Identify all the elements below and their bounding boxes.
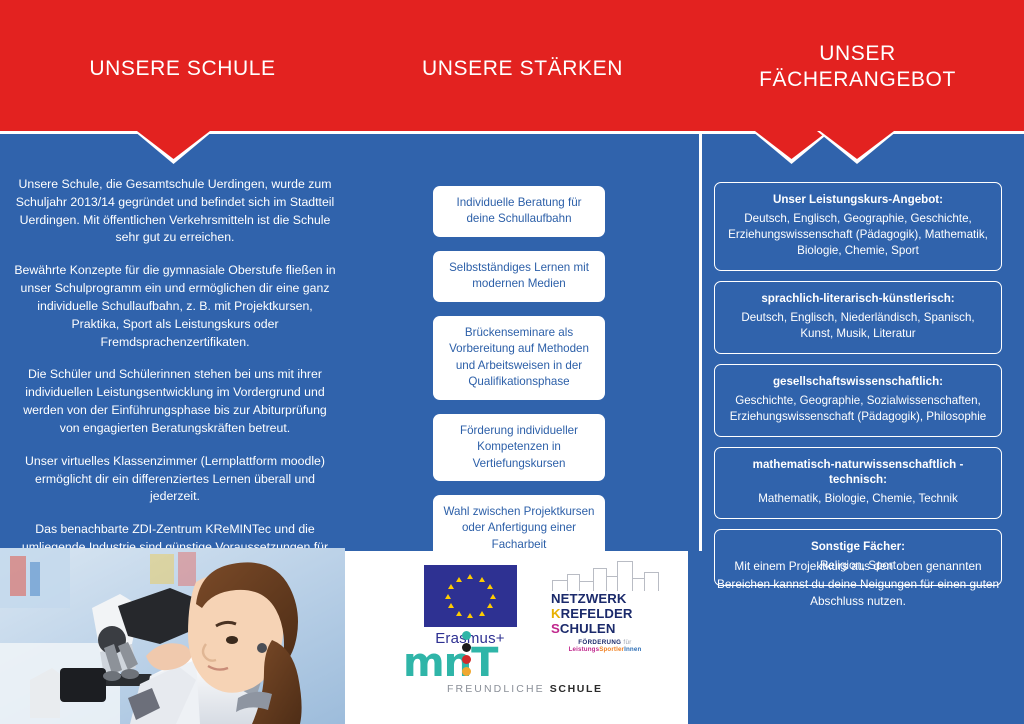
foot2-part-c: Innen [624,646,641,653]
right-column-note: Mit einem Projektkurs aus den oben genan… [714,558,1002,611]
column-divider [699,134,702,551]
mint-letters: mnT [403,640,497,686]
header-title-line-2: FÄCHERANGEBOT [705,67,1010,93]
header-title-line-1: UNSER [705,41,1010,67]
netzwerk-krefelder-schulen-logo: NETZWERK KREFELDER SCHULEN FÖRDERUNG für… [545,561,665,653]
partner-logos-panel: Erasmus+ NETZWERK KREFELDER SCHULEN FÖRD… [345,551,688,724]
strength-card: Selbstständiges Lernen mit modernen Medi… [433,251,605,302]
european-union-flag-icon [424,565,517,627]
subject-card: sprachlich-literarisch-künstlerisch: Deu… [714,281,1002,354]
s-initial: S [551,621,560,636]
netzwerk-line-2: KREFELDER [551,607,665,622]
subject-card-title: Unser Leistungskurs-Angebot: [724,192,992,207]
mint-wordmark: mnT [403,641,603,685]
header-title-unsere-staerken: UNSERE STÄRKEN [370,56,675,82]
left-column-text: Unsere Schule, die Gesamtschule Uerdinge… [12,176,338,610]
header-titles: UNSERE SCHULE UNSERE STÄRKEN UNSER FÄCHE… [0,0,1024,131]
strength-card: Förderung individueller Kompetenzen in V… [433,414,605,481]
strength-card: Individuelle Beratung für deine Schullau… [433,186,605,237]
paragraph: Unser virtuelles Klassenzimmer (Lernplat… [12,453,338,506]
header-title-unser-faecherangebot: UNSER FÄCHERANGEBOT [705,41,1010,92]
header-notch-3 [817,131,897,164]
photo-illustration [0,548,345,724]
student-microscope-photo [0,548,345,724]
mint-freundliche-schule-logo: mnT FREUNDLICHE SCHULE [403,641,603,695]
subject-card: Unser Leistungskurs-Angebot: Deutsch, En… [714,182,1002,271]
paragraph: Bewährte Konzepte für die gymnasiale Obe… [12,262,338,351]
k-initial: K [551,606,561,621]
subject-card: gesellschaftswissenschaftlich: Geschicht… [714,364,1002,437]
subject-card-title: mathematisch-naturwissenschaftlich -tech… [724,457,992,487]
subject-card-title: sprachlich-literarisch-künstlerisch: [724,291,992,306]
netzwerk-line-2-rest: REFELDER [561,606,633,621]
flyer-page: UNSERE SCHULE UNSERE STÄRKEN UNSER FÄCHE… [0,0,1024,724]
strength-card: Brückenseminare als Vorbereitung auf Met… [433,316,605,400]
netzwerk-line-3-rest: CHULEN [560,621,616,636]
notch-red-fill [820,131,894,159]
subject-card-body: Mathematik, Biologie, Chemie, Technik [724,491,992,507]
subject-card-body: Deutsch, Englisch, Niederländisch, Spani… [724,310,992,342]
netzwerk-line-3: SCHULEN [551,622,665,637]
skyline-icon [550,561,660,591]
subject-card: mathematisch-naturwissenschaftlich -tech… [714,447,1002,519]
header-notch-1 [134,131,213,164]
notch-red-fill [137,131,210,159]
subject-card-title: gesellschaftswissenschaftlich: [724,374,992,389]
mint-dots-icon [462,631,471,679]
middle-column-cards: Individuelle Beratung für deine Schullau… [433,186,605,562]
subject-card-body: Geschichte, Geographie, Sozialwissenscha… [724,393,992,425]
subject-card-title: Sonstige Fächer: [724,539,992,554]
paragraph: Die Schüler und Schülerinnen stehen bei … [12,366,338,437]
netzwerk-line-1: NETZWERK [551,592,665,607]
netzwerk-wordmark: NETZWERK KREFELDER SCHULEN [545,592,665,636]
right-column-cards: Unser Leistungskurs-Angebot: Deutsch, En… [714,182,1002,586]
paragraph: Unsere Schule, die Gesamtschule Uerdinge… [12,176,338,247]
header-title-unsere-schule: UNSERE SCHULE [30,56,335,82]
subject-card-body: Deutsch, Englisch, Geographie, Geschicht… [724,211,992,259]
